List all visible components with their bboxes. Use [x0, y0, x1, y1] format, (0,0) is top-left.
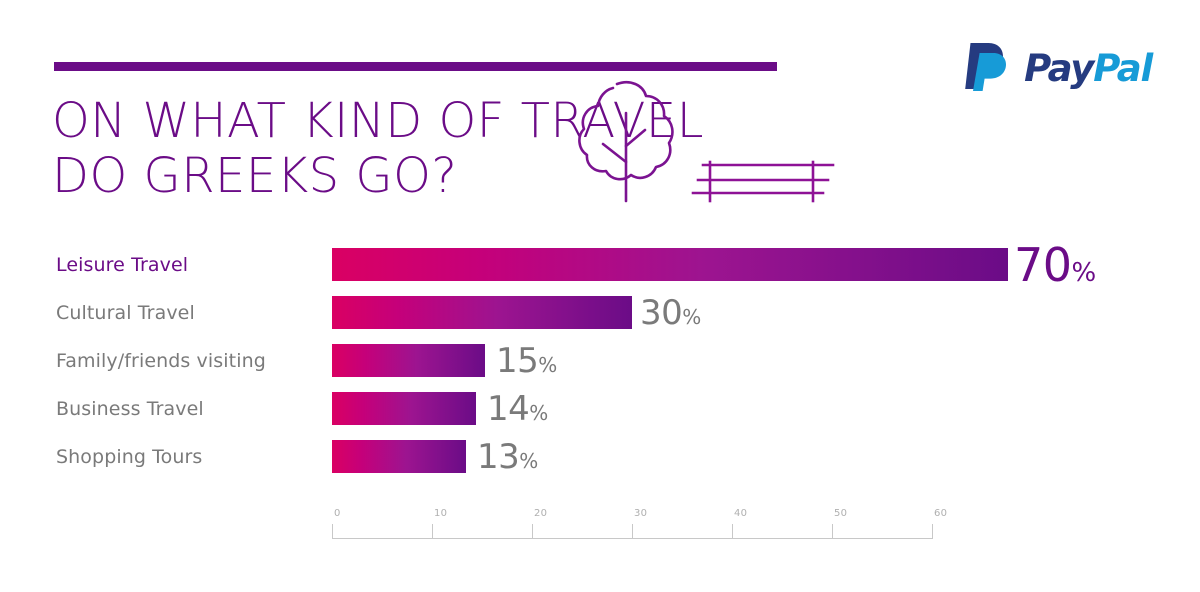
bar-fill-shopping-tours — [332, 440, 466, 473]
axis-tick-label-50: 50 — [834, 508, 847, 519]
table-row: Leisure Travel 70% — [0, 248, 1200, 281]
bar-label-leisure-travel: Leisure Travel — [56, 254, 188, 276]
bar-label-cultural-travel: Cultural Travel — [56, 302, 195, 324]
bar-track-cultural-travel — [332, 296, 632, 329]
bar-label-business-travel: Business Travel — [56, 398, 204, 420]
bar-value-leisure-travel: 70% — [1014, 238, 1096, 292]
bar-fill-family-friends-visiting — [332, 344, 485, 377]
axis-tick-label-0: 0 — [334, 508, 341, 519]
bar-value-shopping-tours: 13% — [477, 437, 538, 477]
bar-track-shopping-tours — [332, 440, 466, 473]
axis-tick-label-20: 20 — [534, 508, 547, 519]
axis-tick-10 — [432, 524, 433, 539]
x-axis: 0102030405060 — [332, 508, 932, 553]
axis-tick-label-10: 10 — [434, 508, 447, 519]
bar-value-cultural-travel: 30% — [640, 293, 701, 333]
paypal-logo: PayPal — [962, 40, 1152, 96]
table-row: Shopping Tours 13% — [0, 440, 1200, 473]
paypal-wordmark-pay: Pay — [1024, 47, 1093, 90]
bar-track-leisure-travel — [332, 248, 1008, 281]
paypal-wordmark-pal: Pal — [1093, 47, 1152, 90]
axis-tick-40 — [732, 524, 733, 539]
axis-tick-30 — [632, 524, 633, 539]
axis-tick-label-40: 40 — [734, 508, 747, 519]
bar-fill-business-travel — [332, 392, 476, 425]
axis-tick-50 — [832, 524, 833, 539]
axis-tick-0 — [332, 524, 333, 539]
bar-value-family-friends-visiting: 15% — [496, 341, 557, 381]
bar-fill-cultural-travel — [332, 296, 632, 329]
axis-tick-label-60: 60 — [934, 508, 947, 519]
paypal-double-p-icon — [962, 40, 1010, 96]
axis-tick-label-30: 30 — [634, 508, 647, 519]
bar-label-shopping-tours: Shopping Tours — [56, 446, 202, 468]
table-row: Family/friends visiting 15% — [0, 344, 1200, 377]
bar-track-business-travel — [332, 392, 476, 425]
bar-fill-leisure-travel — [332, 248, 1008, 281]
paypal-wordmark: PayPal — [1024, 50, 1152, 87]
axis-tick-60 — [932, 524, 933, 539]
bar-value-business-travel: 14% — [487, 389, 548, 429]
tree-icon — [579, 82, 672, 201]
park-bench-icon — [693, 162, 833, 201]
bar-label-family-friends-visiting: Family/friends visiting — [56, 350, 266, 372]
table-row: Cultural Travel 30% — [0, 296, 1200, 329]
axis-tick-20 — [532, 524, 533, 539]
travel-illustration — [495, 70, 885, 215]
bar-chart: Leisure Travel 70% Cultural Travel 30% F… — [0, 248, 1200, 548]
bar-track-family-friends-visiting — [332, 344, 485, 377]
table-row: Business Travel 14% — [0, 392, 1200, 425]
